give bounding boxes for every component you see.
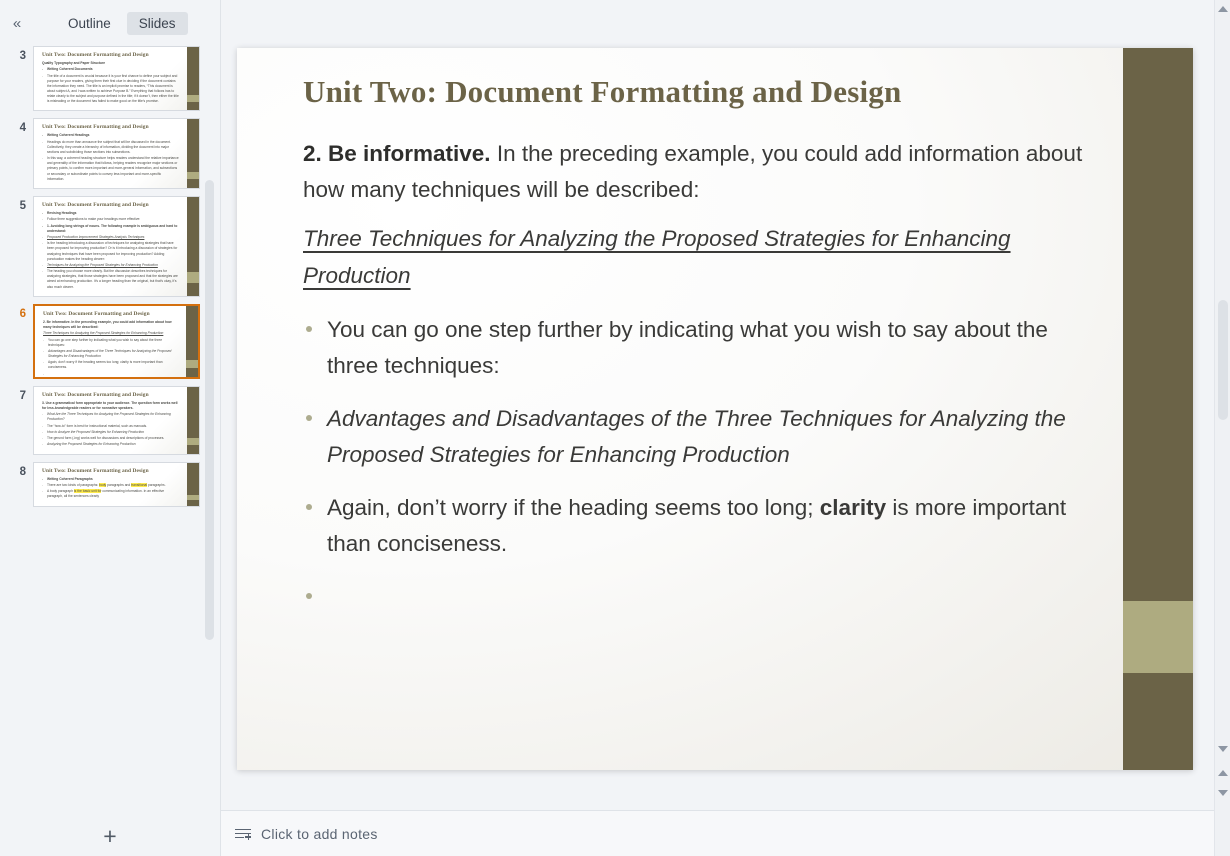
thumbnail-text-line: 3. Use a grammatical form appropriate to… xyxy=(42,401,193,411)
bullet-bold-word: clarity xyxy=(820,495,886,520)
thumbnail-text-line: Advantages and Disadvantages of the Thre… xyxy=(43,349,192,359)
thumbnail-text-line: The “how-to” form is best for instructio… xyxy=(42,424,193,429)
thumbnail-text-line: Writing Coherent Headings xyxy=(42,133,193,138)
thumbnail-preview: Unit Two: Document Formatting and Design… xyxy=(34,387,199,454)
slide-editor[interactable]: Unit Two: Document Formatting and Design… xyxy=(221,0,1214,810)
thumbnail-title: Unit Two: Document Formatting and Design xyxy=(43,311,192,317)
slide-decor-strip xyxy=(1123,48,1193,770)
thumbnail-separator xyxy=(0,507,220,514)
thumbnail-separator xyxy=(0,189,220,196)
list-item-empty[interactable] xyxy=(303,579,1093,589)
thumbnail-text-line: Writing Coherent Paragraphs xyxy=(42,477,193,482)
thumbnail-scrollbar[interactable] xyxy=(205,180,214,640)
thumbnail-title: Unit Two: Document Formatting and Design xyxy=(42,52,193,58)
thumbnail-row-3[interactable]: 3Unit Two: Document Formatting and Desig… xyxy=(0,46,220,111)
scroll-up-icon[interactable] xyxy=(1218,6,1228,12)
main-scrollbar[interactable] xyxy=(1214,0,1230,856)
slide-thumbnail[interactable]: Unit Two: Document Formatting and Design… xyxy=(33,304,200,379)
panel-tab-bar: « Outline Slides xyxy=(0,0,220,46)
thumbnail-title: Unit Two: Document Formatting and Design xyxy=(42,124,193,130)
slide-thumbnail[interactable]: Unit Two: Document Formatting and Design… xyxy=(33,118,200,189)
thumbnail-text-line: Again, don’t worry if the heading seems … xyxy=(43,360,192,370)
thumbnail-text-line: In this way, a coherent heading structur… xyxy=(42,156,193,182)
thumbnail-text-line: The heading you choose more clearly. But… xyxy=(42,269,193,289)
thumbnail-preview: Unit Two: Document Formatting and Design… xyxy=(35,306,198,377)
thumbnail-number: 8 xyxy=(0,462,33,478)
thumbnail-text-line: Is the heading introducing a discussion … xyxy=(42,241,193,261)
slide-thumbnail[interactable]: Unit Two: Document Formatting and Design… xyxy=(33,462,200,507)
thumbnail-text-line: Revising Headings xyxy=(42,211,193,216)
slide-title[interactable]: Unit Two: Document Formatting and Design xyxy=(303,74,1093,110)
thumbnail-row-6[interactable]: 6Unit Two: Document Formatting and Desig… xyxy=(0,304,220,379)
slide-content: Unit Two: Document Formatting and Design… xyxy=(303,74,1093,752)
thumbnail-number: 4 xyxy=(0,118,33,134)
slide-canvas[interactable]: Unit Two: Document Formatting and Design… xyxy=(237,48,1193,770)
scroll-up-icon-2[interactable] xyxy=(1218,770,1228,776)
bullet-text-pre: Again, don’t worry if the heading seems … xyxy=(327,495,820,520)
notes-placeholder: Click to add notes xyxy=(261,826,378,842)
thumbnail-row-4[interactable]: 4Unit Two: Document Formatting and Desig… xyxy=(0,118,220,189)
thumbnail-text-line: Analyzing the Proposed Strategies for En… xyxy=(42,442,193,447)
add-slide-button[interactable]: + xyxy=(0,816,220,856)
thumbnail-number: 5 xyxy=(0,196,33,212)
slide-thumbnail[interactable]: Unit Two: Document Formatting and Design… xyxy=(33,386,200,455)
thumbnail-text-line: How to Analyze the Proposed Strategies f… xyxy=(42,430,193,435)
thumbnail-number: 7 xyxy=(0,386,33,402)
thumbnail-number: 6 xyxy=(0,304,33,320)
thumbnail-text-line: Proposed Production Improvement Strategi… xyxy=(42,235,193,240)
notes-pane[interactable]: Click to add notes xyxy=(221,810,1214,856)
thumbnail-text-line: What Are the Three Techniques for Analyz… xyxy=(42,412,193,422)
slide-thumbnail[interactable]: Unit Two: Document Formatting and Design… xyxy=(33,196,200,297)
list-item[interactable]: Advantages and Disadvantages of the Thre… xyxy=(303,401,1093,474)
thumbnail-text-line: 1. Avoiding long strings of nouns. The f… xyxy=(42,224,193,234)
scroll-down-icon-2[interactable] xyxy=(1218,790,1228,796)
thumbnail-text-line: Techniques for Analyzing the Proposed St… xyxy=(42,263,193,268)
list-item[interactable]: Again, don’t worry if the heading seems … xyxy=(303,490,1093,563)
thumbnail-preview: Unit Two: Document Formatting and Design… xyxy=(34,47,199,110)
thumbnail-text-line: There are two kinds of paragraphs: body … xyxy=(42,483,193,488)
thumbnail-text-line: The title of a document is crucial becau… xyxy=(42,74,193,105)
list-item[interactable]: You can go one step further by indicatin… xyxy=(303,312,1093,385)
thumbnail-text-line: Follow three suggestions to make your he… xyxy=(42,217,193,222)
tab-outline[interactable]: Outline xyxy=(56,12,123,35)
thumbnail-text-line: You can go one step further by indicatin… xyxy=(43,338,192,348)
thumbnail-list[interactable]: 3Unit Two: Document Formatting and Desig… xyxy=(0,46,220,816)
thumbnail-title: Unit Two: Document Formatting and Design xyxy=(42,202,193,208)
thumbnail-row-8[interactable]: 8Unit Two: Document Formatting and Desig… xyxy=(0,462,220,507)
thumbnail-separator xyxy=(0,379,220,386)
heading-example[interactable]: Three Techniques for Analyzing the Propo… xyxy=(303,221,1093,294)
thumbnail-row-7[interactable]: 7Unit Two: Document Formatting and Desig… xyxy=(0,386,220,455)
thumbnail-text-line: A body paragraph is the basic unit for c… xyxy=(42,489,193,499)
collapse-panel-icon[interactable]: « xyxy=(4,10,30,36)
thumbnail-preview: Unit Two: Document Formatting and Design… xyxy=(34,119,199,188)
thumbnail-text-line: Quality Typography and Paper Structure xyxy=(42,61,193,66)
scroll-down-icon[interactable] xyxy=(1218,746,1228,752)
thumbnail-text-line: Writing Coherent Documents xyxy=(42,67,193,72)
thumbnail-separator xyxy=(0,111,220,118)
slide-decor-band xyxy=(1123,601,1193,673)
thumbnail-separator xyxy=(0,297,220,304)
paragraph-lead: 2. Be informative. xyxy=(303,141,491,166)
thumbnail-title: Unit Two: Document Formatting and Design xyxy=(42,392,193,398)
thumbnail-row-5[interactable]: 5Unit Two: Document Formatting and Desig… xyxy=(0,196,220,297)
slide-paragraph[interactable]: 2. Be informative. In the preceding exam… xyxy=(303,136,1093,207)
thumbnail-title: Unit Two: Document Formatting and Design xyxy=(42,468,193,474)
thumbnail-text-line: The gerund form (-ing) works well for di… xyxy=(42,436,193,441)
thumbnail-number: 3 xyxy=(0,46,33,62)
slide-panel: « Outline Slides 3Unit Two: Document For… xyxy=(0,0,221,856)
thumbnail-preview: Unit Two: Document Formatting and Design… xyxy=(34,463,199,506)
slide-bullet-list[interactable]: You can go one step further by indicatin… xyxy=(303,312,1093,589)
notes-icon xyxy=(235,827,251,841)
thumbnail-text-line: Headings do more than announce the subje… xyxy=(42,140,193,155)
thumbnail-separator xyxy=(0,455,220,462)
scrollbar-thumb[interactable] xyxy=(1218,300,1228,420)
presentation-editor: « Outline Slides 3Unit Two: Document For… xyxy=(0,0,1230,856)
main-area: Unit Two: Document Formatting and Design… xyxy=(221,0,1230,856)
tab-slides[interactable]: Slides xyxy=(127,12,188,35)
thumbnail-text-line: 2. Be informative. In the preceding exam… xyxy=(43,320,192,330)
thumbnail-preview: Unit Two: Document Formatting and Design… xyxy=(34,197,199,296)
thumbnail-text-line: Three Techniques for Analyzing the Propo… xyxy=(43,331,192,336)
slide-thumbnail[interactable]: Unit Two: Document Formatting and Design… xyxy=(33,46,200,111)
